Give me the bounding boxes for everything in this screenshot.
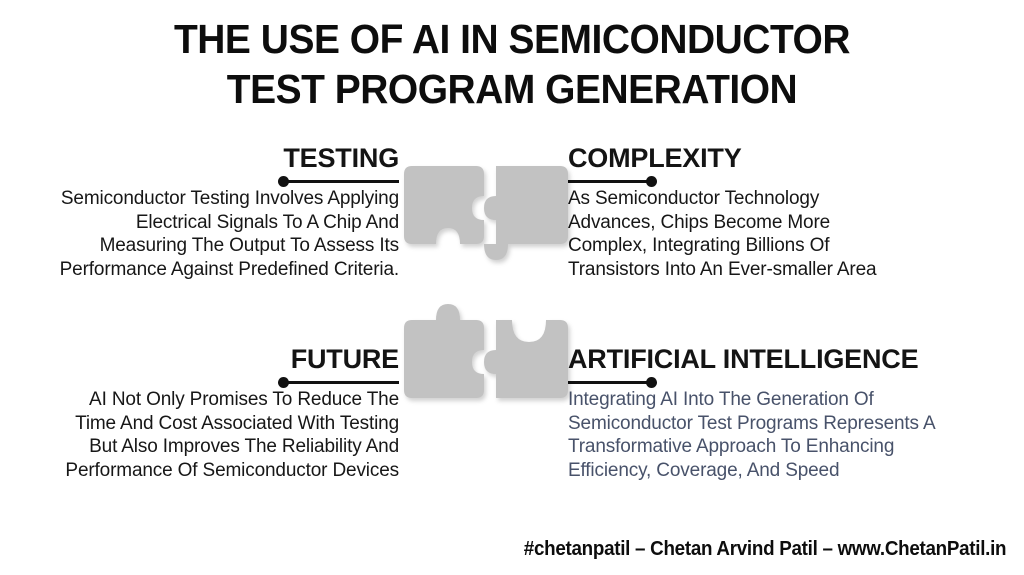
quadrant-testing: TESTING Semiconductor Testing Involves A… (18, 143, 399, 281)
body-line: Complex, Integrating Billions Of (568, 234, 988, 258)
rule-bar (568, 381, 656, 384)
quadrant-complexity: COMPLEXITY As Semiconductor Technology A… (568, 143, 988, 281)
body-line: Semiconductor Testing Involves Applying (18, 187, 399, 211)
rule-dot (278, 377, 289, 388)
rule-bar (284, 381, 399, 384)
bottom-puzzle-group (398, 296, 578, 446)
top-puzzle-group (398, 158, 578, 308)
body-line: Integrating AI Into The Generation Of (568, 388, 988, 412)
quadrant-future-rule (18, 376, 399, 388)
body-line: Transistors Into An Ever-smaller Area (568, 258, 988, 282)
puzzle-piece-bottom-left (404, 304, 484, 398)
quadrant-future: FUTURE AI Not Only Promises To Reduce Th… (18, 344, 399, 482)
title-line-1: THE USE OF AI IN SEMICONDUCTOR (26, 14, 999, 64)
body-line: Semiconductor Test Programs Represents A (568, 412, 988, 436)
quadrant-artificial-intelligence: ARTIFICIAL INTELLIGENCE Integrating AI I… (568, 344, 988, 482)
rule-dot (278, 176, 289, 187)
title-line-2: TEST PROGRAM GENERATION (26, 64, 999, 114)
body-line: Time And Cost Associated With Testing (18, 412, 399, 436)
body-line: Transformative Approach To Enhancing (568, 435, 988, 459)
quadrant-complexity-rule (568, 175, 988, 187)
rule-bar (568, 180, 656, 183)
quadrant-complexity-body: As Semiconductor Technology Advances, Ch… (568, 187, 988, 281)
body-line: But Also Improves The Reliability And (18, 435, 399, 459)
quadrant-testing-heading: TESTING (18, 143, 399, 173)
quadrant-testing-rule (18, 175, 399, 187)
quadrant-artificial-intelligence-heading: ARTIFICIAL INTELLIGENCE (568, 344, 988, 374)
slide-canvas: THE USE OF AI IN SEMICONDUCTOR TEST PROG… (0, 0, 1024, 575)
body-line: As Semiconductor Technology (568, 187, 988, 211)
body-line: Performance Of Semiconductor Devices (18, 459, 399, 483)
quadrant-artificial-intelligence-body: Integrating AI Into The Generation Of Se… (568, 388, 988, 482)
body-line: Measuring The Output To Assess Its (18, 234, 399, 258)
body-line: AI Not Only Promises To Reduce The (18, 388, 399, 412)
footer-credit: #chetanpatil – Chetan Arvind Patil – www… (524, 538, 1006, 561)
quadrant-complexity-heading: COMPLEXITY (568, 143, 988, 173)
quadrant-testing-body: Semiconductor Testing Involves Applying … (18, 187, 399, 281)
body-line: Efficiency, Coverage, And Speed (568, 459, 988, 483)
quadrant-future-heading: FUTURE (18, 344, 399, 374)
rule-dot (646, 176, 657, 187)
puzzle-piece-top-right (484, 166, 568, 260)
puzzle-piece-bottom-right (484, 320, 568, 398)
rule-bar (284, 180, 399, 183)
body-line: Performance Against Predefined Criteria. (18, 258, 399, 282)
body-line: Advances, Chips Become More (568, 211, 988, 235)
quadrant-artificial-intelligence-rule (568, 376, 988, 388)
quadrant-future-body: AI Not Only Promises To Reduce The Time … (18, 388, 399, 482)
puzzle-piece-top-left (404, 166, 484, 244)
page-title: THE USE OF AI IN SEMICONDUCTOR TEST PROG… (26, 14, 999, 114)
rule-dot (646, 377, 657, 388)
body-line: Electrical Signals To A Chip And (18, 211, 399, 235)
